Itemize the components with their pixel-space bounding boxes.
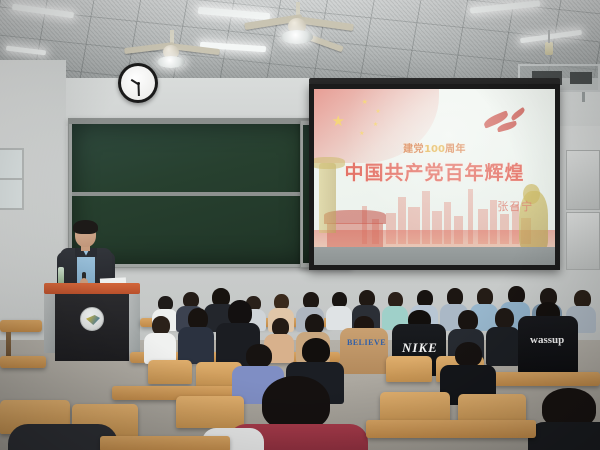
jacket-text-nike: NIKE bbox=[402, 340, 438, 356]
sweatshirt-text-wassup: wassup bbox=[530, 334, 564, 346]
cage-support-leg bbox=[582, 92, 585, 102]
slide-subtitle: 建党100周年 bbox=[314, 140, 555, 155]
left-wall-window bbox=[0, 148, 24, 210]
person-body bbox=[178, 327, 214, 364]
audience-member-wassup-sweatshirt: wassup bbox=[518, 312, 578, 372]
person-head bbox=[458, 310, 478, 331]
foreground-desk-edge bbox=[366, 420, 536, 438]
blackboard-top-rail bbox=[68, 119, 311, 124]
classroom-scene: ★ ★ ★ ★ ★ bbox=[0, 0, 600, 450]
slide-bottom-bar bbox=[314, 247, 555, 265]
flag-star-small: ★ bbox=[373, 122, 378, 128]
screen-surface: ★ ★ ★ ★ ★ bbox=[314, 89, 555, 265]
wall-clock bbox=[118, 63, 158, 103]
pendant-lamp bbox=[545, 42, 553, 55]
slide-author: 张召宁 bbox=[497, 198, 533, 214]
flag-star-small: ★ bbox=[362, 99, 368, 106]
ceiling-fan bbox=[248, 2, 348, 46]
audience-member bbox=[178, 308, 214, 362]
dove-emblem bbox=[478, 108, 541, 143]
person-head bbox=[246, 344, 272, 368]
clock-hand-minute bbox=[138, 84, 140, 96]
slide-subtitle-suffix: 周年 bbox=[445, 144, 466, 155]
lectern bbox=[44, 283, 140, 361]
foreground-desk-edge bbox=[100, 436, 230, 450]
slide-anniversary-number: 100 bbox=[424, 144, 445, 155]
lectern-top-surface bbox=[44, 283, 140, 294]
right-wall-panel bbox=[566, 212, 600, 270]
slide-title: 中国共产党百年辉煌 bbox=[314, 158, 555, 185]
university-emblem-icon bbox=[80, 307, 104, 331]
fan-light bbox=[157, 56, 185, 68]
right-wall-panel bbox=[566, 150, 600, 210]
person-head bbox=[495, 308, 514, 329]
chair-back bbox=[148, 360, 192, 384]
dove-shape bbox=[510, 107, 527, 121]
person-head bbox=[305, 314, 324, 334]
water-bottle bbox=[58, 267, 64, 284]
window-mullion bbox=[0, 178, 22, 180]
chair-back bbox=[386, 356, 432, 382]
presentation-slide: ★ ★ ★ ★ ★ bbox=[314, 89, 555, 265]
audience-member bbox=[144, 316, 176, 362]
side-desk bbox=[0, 356, 46, 368]
audience-member-believe-hoodie: BELIEVE bbox=[340, 322, 388, 372]
foreground-audience-member-right bbox=[528, 388, 600, 450]
person-head bbox=[455, 342, 482, 367]
person-head bbox=[262, 376, 330, 430]
person-head bbox=[302, 338, 330, 364]
audience-member bbox=[440, 342, 496, 400]
projector-unit-secondary bbox=[570, 72, 592, 84]
hoodie-text-believe: BELIEVE bbox=[347, 338, 386, 347]
clock-center-pin bbox=[137, 82, 140, 85]
blackboard-divider bbox=[72, 192, 307, 196]
pendant-lamp-cord bbox=[548, 30, 550, 43]
person-body bbox=[340, 328, 388, 374]
flag-star-large: ★ bbox=[332, 114, 345, 129]
fan-light bbox=[281, 30, 313, 44]
side-desk-leg bbox=[6, 332, 11, 358]
flag-star-small: ★ bbox=[359, 131, 364, 137]
foreground-audience-member bbox=[228, 376, 368, 450]
person-body bbox=[528, 422, 600, 450]
slide-subtitle-prefix: 建党 bbox=[403, 144, 424, 155]
presenter-hair bbox=[73, 220, 98, 234]
flag-star-small: ★ bbox=[375, 109, 380, 115]
side-desk bbox=[0, 320, 42, 332]
projection-screen[interactable]: ★ ★ ★ ★ ★ bbox=[309, 84, 560, 270]
